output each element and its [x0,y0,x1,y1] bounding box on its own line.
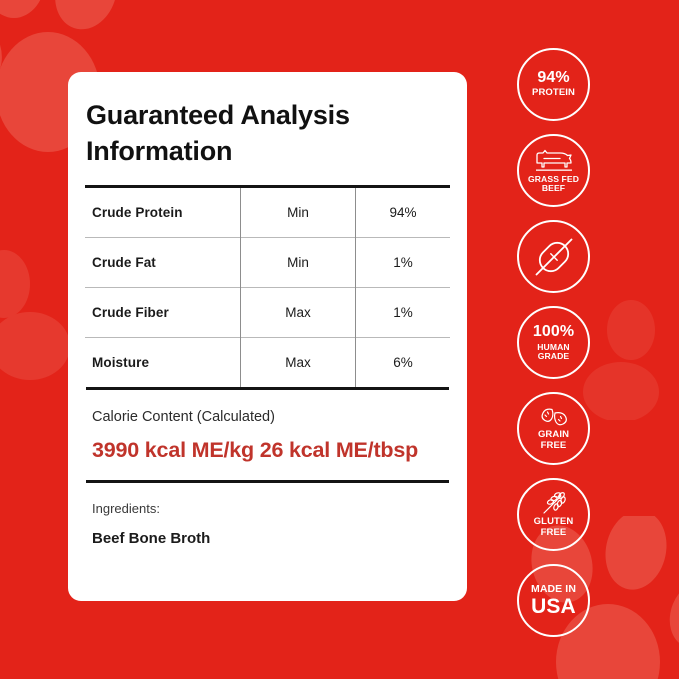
badge-headline: MADE IN [531,584,576,595]
nutrient-qualifier: Min [241,237,356,287]
table-row: Crude Fat Min 1% [85,237,450,287]
guaranteed-analysis-table: Crude Protein Min 94% Crude Fat Min 1% C… [85,188,450,387]
ingredients-value: Beef Bone Broth [86,530,449,547]
badge-caption: GRAIN FREE [538,430,569,451]
badge-made-in-usa[interactable]: MADE IN USA [517,564,590,637]
nutrient-value: 1% [356,237,451,287]
badge-headline: 100% [533,324,574,340]
nutrient-value: 1% [356,287,451,337]
badge-caption: USA [531,596,576,617]
cow-icon [534,148,574,172]
nutrient-value: 6% [356,337,451,387]
calorie-divider [86,480,449,483]
table-row: Moisture Max 6% [85,337,450,387]
nutrient-name: Moisture [85,337,241,387]
no-pill-icon [532,235,576,279]
nutrient-qualifier: Max [241,287,356,337]
badge-no-additives[interactable] [517,220,590,293]
badge-human-grade[interactable]: 100% HUMAN GRADE [517,306,590,379]
table-row: Crude Fiber Max 1% [85,287,450,337]
nutrient-name: Crude Protein [85,188,241,238]
calorie-content-value: 3990 kcal ME/kg 26 kcal ME/tbsp [86,438,449,463]
badge-caption: GRASS FED BEEF [528,175,579,194]
feature-badge-list: 94% PROTEIN GRASS FED BEEF [517,48,590,650]
nutrient-name: Crude Fiber [85,287,241,337]
table-row: Crude Protein Min 94% [85,188,450,238]
badge-grain-free[interactable]: GRAIN FREE [517,392,590,465]
badge-caption: GLUTEN FREE [534,517,574,538]
nutrient-qualifier: Min [241,188,356,238]
badge-caption: HUMAN GRADE [537,343,569,362]
badge-protein[interactable]: 94% PROTEIN [517,48,590,121]
badge-gluten-free[interactable]: GLUTEN FREE [517,478,590,551]
guaranteed-analysis-card: Guaranteed Analysis Information Crude Pr… [68,72,467,601]
badge-caption: PROTEIN [532,88,575,98]
nutrient-qualifier: Max [241,337,356,387]
badge-headline: 94% [537,70,569,86]
grain-icon [539,406,569,428]
badge-grass-fed-beef[interactable]: GRASS FED BEEF [517,134,590,207]
page-title: Guaranteed Analysis Information [86,98,450,170]
calorie-content-label: Calorie Content (Calculated) [86,409,449,425]
nutrient-value: 94% [356,188,451,238]
wheat-icon [539,491,569,515]
nutrient-name: Crude Fat [85,237,241,287]
table-bottom-divider [86,387,449,390]
ingredients-label: Ingredients: [86,501,449,516]
